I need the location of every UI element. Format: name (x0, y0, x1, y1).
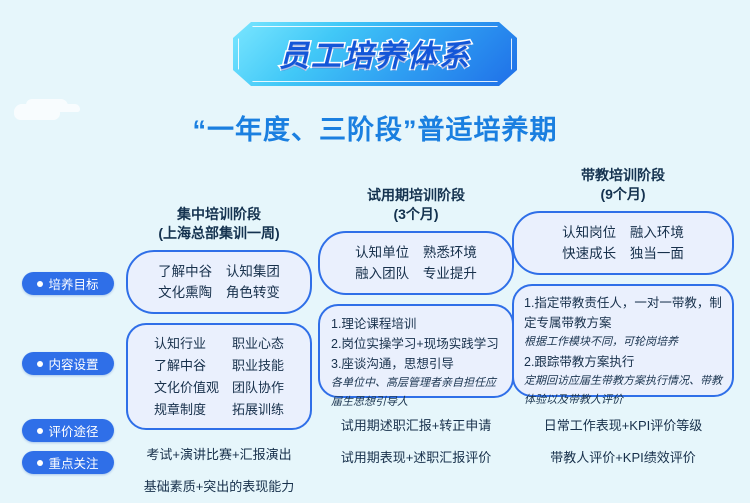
content-item: 了解中谷 (154, 356, 219, 375)
goal-item: 文化熏陶 (158, 282, 212, 303)
goal-row: 快速成长 独当一面 (524, 243, 722, 264)
content-line: 2.岗位实操学习+现场实践学习 (331, 334, 501, 354)
column-title: 集中培训阶段 (177, 206, 261, 222)
banner-container: 员工培养体系 (0, 22, 750, 86)
focus-text: 基础素质+突出的表现能力 (126, 471, 312, 503)
bottom-rows: 日常工作表现+KPI评价等级 带教人评价+KPI绩效评价 (512, 410, 734, 474)
bullet-dot-icon (37, 281, 43, 287)
bullet-dot-icon (37, 428, 43, 434)
stage-column-2: 试用期培训阶段 (3个月) 认知单位 熟悉环境 融入团队 专业提升 1.理论课程… (318, 186, 514, 474)
content-box: 认知行业 职业心态 了解中谷 职业技能 文化价值观 团队协作 规章制度 拓展训练 (126, 323, 312, 430)
column-title: 带教培训阶段 (581, 167, 665, 183)
content-note: 根据工作模块不同，可轮岗培养 (524, 333, 722, 352)
goal-box: 认知岗位 融入环境 快速成长 独当一面 (512, 211, 734, 275)
sidebar-item-label: 重点关注 (48, 453, 98, 472)
content-line: 3.座谈沟通，思想引导 (331, 354, 501, 374)
bullet-dot-icon (37, 460, 43, 466)
column-header: 带教培训阶段 (9个月) (512, 166, 734, 204)
sidebar-item-content[interactable]: 内容设置 (22, 352, 114, 375)
bottom-rows: 考试+演讲比赛+汇报演出 基础素质+突出的表现能力 (126, 439, 312, 503)
evaluation-text: 考试+演讲比赛+汇报演出 (126, 439, 312, 471)
content-item: 认知行业 (154, 334, 219, 353)
content-item: 规章制度 (154, 400, 219, 419)
column-title: 试用期培训阶段 (367, 187, 465, 203)
goal-item: 融入环境 (630, 222, 684, 243)
stage-column-3: 带教培训阶段 (9个月) 认知岗位 融入环境 快速成长 独当一面 1.指定带教责… (512, 166, 734, 474)
evaluation-text: 日常工作表现+KPI评价等级 (512, 410, 734, 442)
sidebar-item-evaluation[interactable]: 评价途径 (22, 419, 114, 442)
content-line: 1.指定带教责任人，一对一带教，制定专属带教方案 (524, 293, 722, 333)
sidebar-item-focus[interactable]: 重点关注 (22, 451, 114, 474)
content-item: 职业心态 (232, 334, 284, 353)
goal-row: 文化熏陶 角色转变 (138, 282, 300, 303)
focus-text: 带教人评价+KPI绩效评价 (512, 442, 734, 474)
page-subtitle: “一年度、三阶段”普适培养期 (0, 108, 750, 147)
goal-item: 融入团队 (355, 263, 409, 284)
goal-item: 了解中谷 (158, 261, 212, 282)
content-item: 文化价值观 (154, 378, 219, 397)
content-item: 团队协作 (232, 378, 284, 397)
column-subtitle: (9个月) (512, 185, 734, 204)
goal-item: 认知岗位 (562, 222, 616, 243)
goal-box: 了解中谷 认知集团 文化熏陶 角色转变 (126, 250, 312, 314)
goal-item: 认知集团 (226, 261, 280, 282)
content-note: 各单位中、高层管理者亲自担任应届生思想引导人 (331, 374, 501, 412)
goal-row: 了解中谷 认知集团 (138, 261, 300, 282)
evaluation-text: 试用期述职汇报+转正申请 (318, 410, 514, 442)
goal-row: 认知岗位 融入环境 (524, 222, 722, 243)
goal-item: 熟悉环境 (423, 242, 477, 263)
sidebar-item-label: 培养目标 (48, 274, 98, 293)
content-line: 1.理论课程培训 (331, 314, 501, 334)
title-banner: 员工培养体系 (233, 22, 517, 86)
banner-title: 员工培养体系 (279, 31, 471, 75)
column-header: 集中培训阶段 (上海总部集训一周) (126, 205, 312, 243)
content-item: 拓展训练 (232, 400, 284, 419)
content-line: 2.跟踪带教方案执行 (524, 352, 722, 372)
goal-item: 角色转变 (226, 282, 280, 303)
focus-text: 试用期表现+述职汇报评价 (318, 442, 514, 474)
sidebar-item-label: 内容设置 (48, 354, 98, 373)
content-note: 定期回访应届生带教方案执行情况、带教体验以及带教人评价 (524, 372, 722, 410)
bottom-rows: 试用期述职汇报+转正申请 试用期表现+述职汇报评价 (318, 410, 514, 474)
column-subtitle: (上海总部集训一周) (126, 224, 312, 243)
stage-column-1: 集中培训阶段 (上海总部集训一周) 了解中谷 认知集团 文化熏陶 角色转变 认知… (126, 205, 312, 503)
content-grid: 认知行业 职业心态 了解中谷 职业技能 文化价值观 团队协作 规章制度 拓展训练 (136, 334, 302, 419)
goal-item: 认知单位 (355, 242, 409, 263)
goal-box: 认知单位 熟悉环境 融入团队 专业提升 (318, 231, 514, 295)
goal-item: 快速成长 (562, 243, 616, 264)
column-subtitle: (3个月) (318, 205, 514, 224)
sidebar-item-label: 评价途径 (48, 421, 98, 440)
content-item: 职业技能 (232, 356, 284, 375)
column-header: 试用期培训阶段 (3个月) (318, 186, 514, 224)
goal-item: 专业提升 (423, 263, 477, 284)
goal-row: 认知单位 熟悉环境 (330, 242, 502, 263)
sidebar-item-goal[interactable]: 培养目标 (22, 272, 114, 295)
goal-item: 独当一面 (630, 243, 684, 264)
content-box: 1.理论课程培训 2.岗位实操学习+现场实践学习 3.座谈沟通，思想引导 各单位… (318, 304, 514, 398)
goal-row: 融入团队 专业提升 (330, 263, 502, 284)
content-box: 1.指定带教责任人，一对一带教，制定专属带教方案 根据工作模块不同，可轮岗培养 … (512, 284, 734, 397)
bullet-dot-icon (37, 361, 43, 367)
